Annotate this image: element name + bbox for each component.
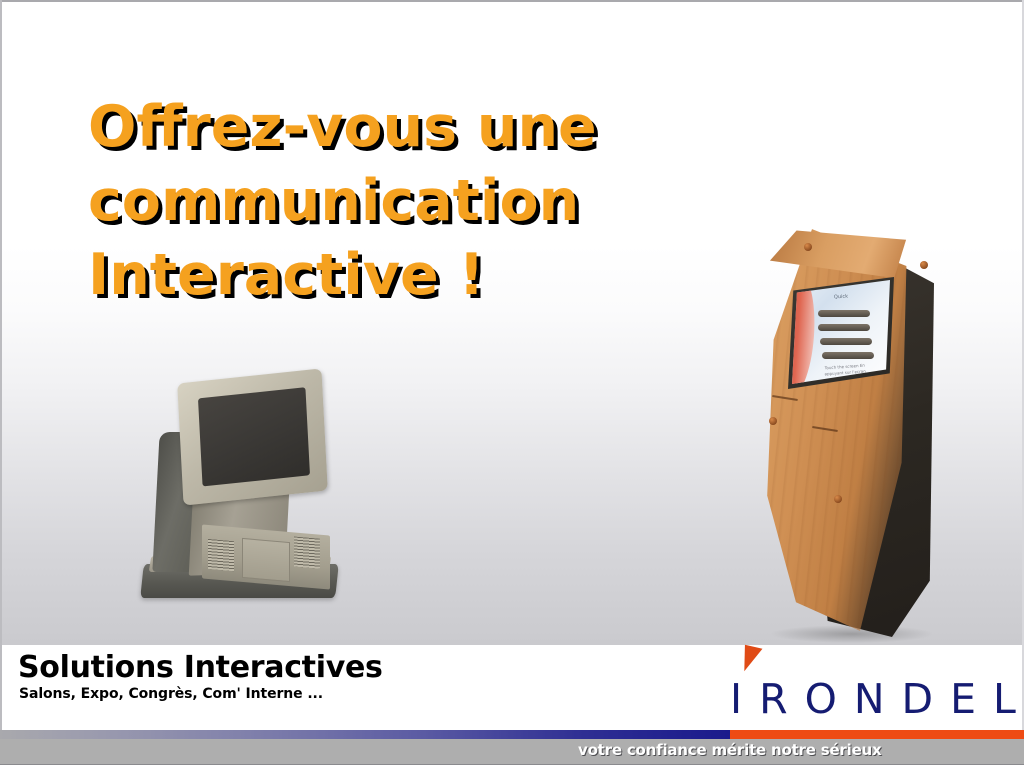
accent-bar-orange [730,730,1024,739]
kiosk-screw-top-left [804,243,812,251]
terminal-screen-bezel [177,368,328,505]
irondel-wordmark: IRONDEL [730,677,1024,721]
slide-border-top [0,0,1024,2]
slide-border-left [0,0,2,645]
terminal-access-door [242,538,290,582]
terminal-vent-left [208,539,234,571]
accent-bar-blue [0,730,730,739]
footer-subtitle: Salons, Expo, Congrès, Com' Interne ... [19,686,323,702]
kiosk-screen-title: Quick [834,294,848,301]
presentation-slide: Offrez-vous une communication Interactiv… [0,0,1024,768]
kiosk-screen-button-4[interactable] [822,352,874,359]
irondel-logo[interactable]: IRONDEL [726,644,1024,728]
kiosk-floor-shadow [772,625,932,643]
kiosk-screen-button-2[interactable] [818,324,870,331]
kiosk-screen: Quick Touch the screen En appuyant sur l… [792,280,890,384]
kiosk-screw-mid-left [769,417,777,425]
triangle-icon [736,645,763,674]
slide-border-bottom [0,764,1024,768]
kiosk-screen-button-3[interactable] [820,338,872,345]
accent-bar-row [0,730,1024,739]
tagline-text: votre confiance mérite notre sérieux [578,740,882,760]
footer-title: Solutions Interactives [18,651,383,685]
terminal-screen [198,387,310,486]
terminal-vent-right [294,536,320,568]
kiosk-screw-top-right [920,261,928,269]
kiosk-screen-button-1[interactable] [818,310,870,317]
page-title: Offrez-vous une communication Interactiv… [88,90,768,312]
terminal-body [202,524,330,589]
kiosk-screw-lower [834,495,842,503]
desktop-terminal-image [138,368,343,598]
wooden-kiosk-image: Quick Touch the screen En appuyant sur l… [742,225,957,637]
